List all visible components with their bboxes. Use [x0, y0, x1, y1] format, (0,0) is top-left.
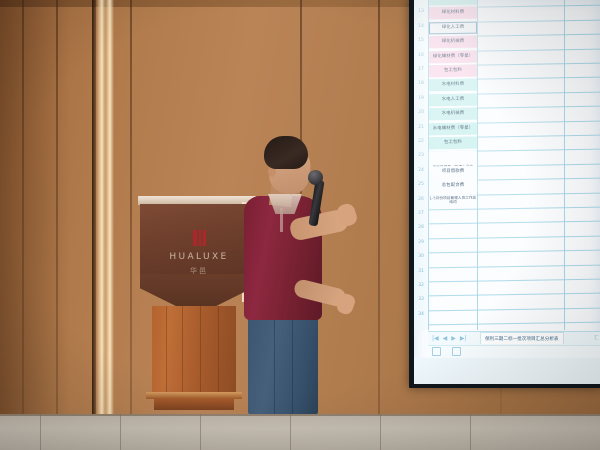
- row-number[interactable]: 13: [414, 10, 428, 15]
- row-number[interactable]: 31: [414, 270, 428, 275]
- first-sheet-icon[interactable]: |◀: [432, 335, 439, 342]
- row-number[interactable]: 28: [414, 226, 428, 231]
- spreadsheet-cell[interactable]: 包工包料: [429, 0, 477, 6]
- wood-grain: [200, 306, 201, 394]
- grid-line: [428, 221, 600, 225]
- workbook-empty-area: [414, 358, 600, 384]
- spreadsheet-cell[interactable]: 绿化材料费: [429, 7, 477, 20]
- wall-panel-seam: [56, 0, 58, 450]
- grid-line: [428, 279, 600, 283]
- projection-screen[interactable]: 1213141516171819202122232425262728293031…: [414, 0, 600, 384]
- row-number[interactable]: 21: [414, 126, 428, 131]
- column-divider: [564, 0, 565, 330]
- grid-line: [428, 322, 600, 326]
- row-number[interactable]: 27: [414, 212, 428, 217]
- row-number[interactable]: 33: [414, 298, 428, 303]
- next-sheet-icon[interactable]: ▶: [451, 335, 456, 342]
- stage-floor: [0, 414, 600, 450]
- floor-seam: [470, 414, 471, 450]
- spreadsheet-cell[interactable]: 水电辅材费（零星）: [429, 122, 477, 135]
- spreadsheet-cell[interactable]: 包工包料: [429, 65, 477, 78]
- presenter: [246, 136, 366, 414]
- row-number[interactable]: 18: [414, 82, 428, 87]
- presenter-jeans: [248, 314, 318, 414]
- fabric-fold: [292, 314, 293, 414]
- sheet-nav-buttons[interactable]: |◀ ◀ ▶ ▶|: [432, 333, 474, 343]
- floor-seam: [120, 414, 121, 450]
- floor-seam: [290, 414, 291, 450]
- spreadsheet-cell[interactable]: 水电机械费: [429, 108, 477, 121]
- row-number[interactable]: 26: [414, 198, 428, 203]
- floor-seam: [40, 414, 41, 450]
- spreadsheet-cell[interactable]: 绿化机械费: [429, 36, 477, 49]
- row-number[interactable]: 25: [414, 183, 428, 188]
- grid-line: [428, 307, 600, 311]
- grid-line: [428, 235, 600, 239]
- grid-line: [428, 264, 600, 268]
- wall-panel-seam: [130, 0, 132, 450]
- row-number[interactable]: 14: [414, 25, 428, 30]
- sheet-tab-active[interactable]: 保利三期二标一批次项目汇总分析表: [480, 332, 564, 344]
- wall-panel-seam: [378, 0, 380, 450]
- spreadsheet-cell[interactable]: 水电材料费: [429, 79, 477, 92]
- row-number[interactable]: 34: [414, 313, 428, 318]
- fabric-fold: [274, 314, 275, 414]
- grid-line: [428, 250, 600, 254]
- row-number[interactable]: 17: [414, 68, 428, 73]
- row-number[interactable]: 32: [414, 284, 428, 289]
- podium-wood-column: [152, 306, 236, 394]
- wood-grain: [182, 306, 183, 394]
- row-number[interactable]: 20: [414, 111, 428, 116]
- row-number[interactable]: 15: [414, 39, 428, 44]
- view-layout-icon[interactable]: [452, 347, 461, 356]
- podium-base: [154, 398, 234, 410]
- row-number[interactable]: 30: [414, 255, 428, 260]
- row-number[interactable]: 19: [414, 97, 428, 102]
- spreadsheet-cell[interactable]: 1-5月份项目管理人员工作总结词: [429, 194, 477, 207]
- spreadsheet-grid[interactable]: 1213141516171819202122232425262728293031…: [414, 0, 600, 330]
- wall-panel-gap: [92, 0, 96, 450]
- row-number[interactable]: 23: [414, 154, 428, 159]
- presentation-photo: 1213141516171819202122232425262728293031…: [0, 0, 600, 450]
- podium-front-panel: HUALUXE 华邑: [140, 204, 252, 276]
- last-sheet-icon[interactable]: ▶|: [460, 335, 467, 342]
- presenter-hair: [264, 136, 308, 169]
- row-number[interactable]: 29: [414, 241, 428, 246]
- column-divider: [477, 0, 478, 330]
- view-normal-icon[interactable]: [432, 347, 441, 356]
- floor-wall-junction: [0, 414, 600, 416]
- wall-panel-seam: [22, 0, 24, 450]
- row-number[interactable]: 12: [414, 0, 428, 1]
- wood-grain: [218, 306, 219, 394]
- spreadsheet-cell[interactable]: 总包配合费: [429, 180, 477, 193]
- spreadsheet-cell[interactable]: 水电人工费: [429, 93, 477, 106]
- wood-grain: [166, 306, 167, 394]
- floor-seam: [380, 414, 381, 450]
- hualuxe-logo-icon: [193, 230, 206, 246]
- prev-sheet-icon[interactable]: ◀: [443, 335, 448, 342]
- row-number[interactable]: 24: [414, 169, 428, 174]
- wall-highlight-strip: [104, 0, 114, 450]
- wall-shadow-left: [0, 0, 70, 450]
- speaker-podium: HUALUXE 华邑: [138, 196, 256, 411]
- grid-line: [428, 293, 600, 297]
- spreadsheet-cell[interactable]: 包工包料: [429, 137, 477, 150]
- row-number[interactable]: 16: [414, 54, 428, 59]
- podium-brand-label: HUALUXE: [140, 252, 258, 262]
- row-number[interactable]: 22: [414, 140, 428, 145]
- spreadsheet-cell[interactable]: 项目借款费: [429, 165, 477, 178]
- sheet-tab-next[interactable]: 汇: [594, 332, 600, 343]
- row-header-column[interactable]: 1213141516171819202122232425262728293031…: [414, 0, 428, 330]
- spreadsheet-cell[interactable]: 绿化辅材费（零星）: [429, 50, 477, 63]
- floor-seam: [200, 414, 201, 450]
- spreadsheet-cell[interactable]: 绿化人工费: [429, 21, 477, 34]
